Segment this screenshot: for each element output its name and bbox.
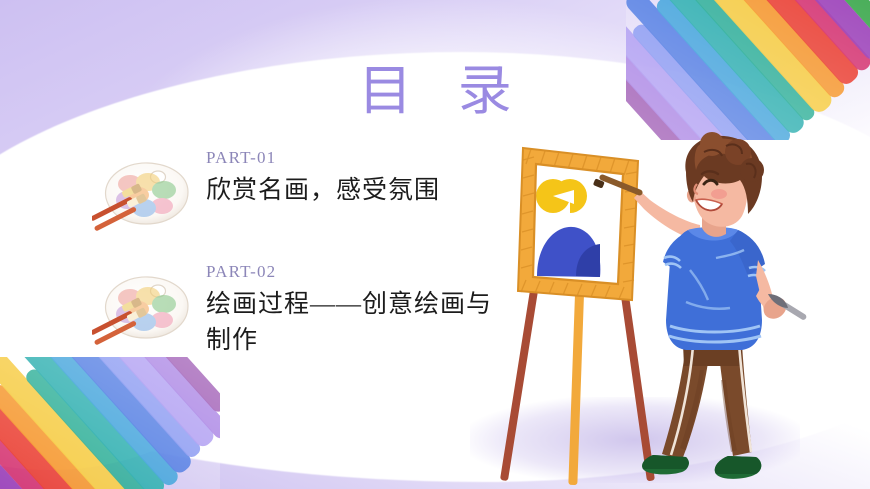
part-label: PART-02 [206, 262, 512, 282]
easel-frame [518, 148, 638, 300]
slide-canvas: 目 录 [0, 0, 870, 489]
toc-entry-part-02[interactable]: PART-02 绘画过程——创意绘画与制作 [92, 262, 512, 360]
toc-entry-text: PART-02 绘画过程——创意绘画与制作 [206, 262, 512, 360]
page-title: 目 录 [0, 62, 870, 121]
boy-shoes [642, 455, 761, 479]
toc-list: PART-01 欣赏名画，感受氛围 [92, 148, 512, 360]
illustration-svg [490, 130, 850, 489]
paint-palette-icon [92, 268, 196, 352]
part-title: 绘画过程——创意绘画与制作 [206, 287, 512, 360]
part-label: PART-01 [206, 148, 512, 168]
toc-entry-text: PART-01 欣赏名画，感受氛围 [206, 148, 512, 210]
paint-palette-icon-svg [92, 268, 196, 352]
boy-head [685, 132, 764, 237]
part-title: 欣赏名画，感受氛围 [206, 173, 512, 209]
boy-shirt [663, 227, 765, 350]
paint-palette-icon-svg [92, 154, 196, 238]
easel [500, 148, 655, 485]
paint-palette-icon [92, 154, 196, 238]
toc-entry-part-01[interactable]: PART-01 欣赏名画，感受氛围 [92, 148, 512, 210]
illustration-boy-painting [490, 130, 850, 489]
boy-pants [662, 344, 752, 460]
